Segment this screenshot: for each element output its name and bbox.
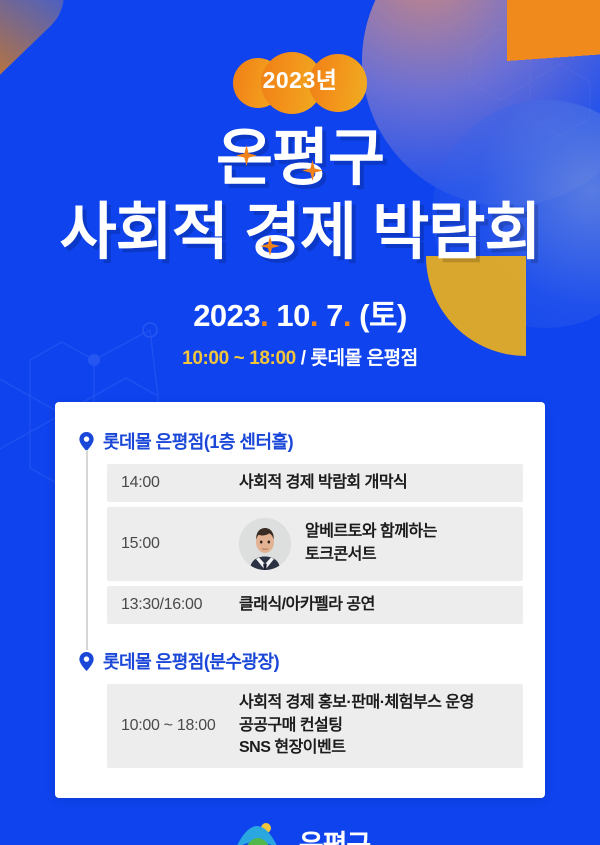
schedule-row: 14:00 사회적 경제 박람회 개막식 bbox=[107, 464, 523, 502]
eunpyeong-gu-emblem-icon: 북한산 맑은숲, 은평 bbox=[230, 820, 286, 845]
poster-title-line2: 사회적 경제 박람회 bbox=[0, 202, 600, 264]
row-time: 15:00 bbox=[121, 535, 239, 553]
schedule-row: 10:00 ~ 18:00 사회적 경제 홍보·판매·체험부스 운영 공공구매 … bbox=[107, 684, 523, 768]
poster-footer: 북한산 맑은숲, 은평 은평구 bbox=[0, 820, 600, 845]
row-time: 10:00 ~ 18:00 bbox=[121, 717, 239, 735]
date-dot: . bbox=[343, 298, 351, 333]
date-weekday: (토) bbox=[359, 298, 407, 333]
year-badge-label: 2023년 bbox=[263, 67, 338, 93]
event-place: 롯데몰 은평점 bbox=[310, 348, 417, 369]
map-pin-icon bbox=[79, 652, 94, 671]
event-separator: / bbox=[296, 348, 311, 369]
date-month: 10 bbox=[276, 298, 309, 333]
row-description: 클래식/아카펠라 공연 bbox=[239, 594, 375, 617]
venue-header: 롯데몰 은평점(분수광장) bbox=[77, 648, 523, 674]
event-poster: 2023년 은평구 사회적 경제 박람회 2023. bbox=[0, 0, 600, 845]
date-dot: . bbox=[310, 298, 318, 333]
poster-header: 2023년 은평구 사회적 경제 박람회 2023. bbox=[0, 0, 600, 370]
map-pin-icon bbox=[79, 432, 94, 451]
date-dot: . bbox=[260, 298, 268, 333]
date-day: 7 bbox=[326, 298, 343, 333]
venue-name: 롯데몰 은평점(1층 센터홀) bbox=[103, 428, 293, 454]
row-time: 14:00 bbox=[121, 474, 239, 492]
row-description: 사회적 경제 홍보·판매·체험부스 운영 공공구매 컨설팅 SNS 현장이벤트 bbox=[239, 692, 474, 760]
year-badge: 2023년 bbox=[233, 52, 368, 106]
schedule-row: 15:00 알 bbox=[107, 507, 523, 581]
event-time-and-place: 10:00 ~ 18:00 / 롯데몰 은평점 bbox=[0, 343, 600, 370]
date-year: 2023 bbox=[193, 298, 260, 333]
event-time: 10:00 ~ 18:00 bbox=[182, 348, 296, 369]
sparkle-icon bbox=[260, 236, 280, 256]
schedule-rows: 10:00 ~ 18:00 사회적 경제 홍보·판매·체험부스 운영 공공구매 … bbox=[107, 684, 523, 768]
speaker-portrait bbox=[239, 518, 291, 570]
timeline-connector bbox=[86, 450, 88, 650]
schedule-card: 롯데몰 은평점(1층 센터홀) 14:00 사회적 경제 박람회 개막식 15:… bbox=[55, 402, 545, 798]
venue-block: 롯데몰 은평점(1층 센터홀) 14:00 사회적 경제 박람회 개막식 15:… bbox=[77, 428, 523, 624]
venue-header: 롯데몰 은평점(1층 센터홀) bbox=[77, 428, 523, 454]
row-time: 13:30/16:00 bbox=[121, 596, 239, 614]
sparkle-icon bbox=[302, 160, 323, 181]
organization-name: 은평구 bbox=[299, 823, 371, 845]
row-description: 사회적 경제 박람회 개막식 bbox=[239, 472, 407, 495]
venue-block: 롯데몰 은평점(분수광장) 10:00 ~ 18:00 사회적 경제 홍보·판매… bbox=[77, 648, 523, 768]
schedule-row: 13:30/16:00 클래식/아카펠라 공연 bbox=[107, 586, 523, 624]
sparkle-icon bbox=[236, 145, 257, 166]
poster-title-line1: 은평구 bbox=[0, 128, 600, 190]
venue-name: 롯데몰 은평점(분수광장) bbox=[103, 648, 279, 674]
row-description: 알베르토와 함께하는 토크콘서트 bbox=[305, 521, 437, 566]
schedule-rows: 14:00 사회적 경제 박람회 개막식 15:00 bbox=[107, 464, 523, 624]
event-date: 2023. 10. 7. (토) bbox=[0, 290, 600, 335]
